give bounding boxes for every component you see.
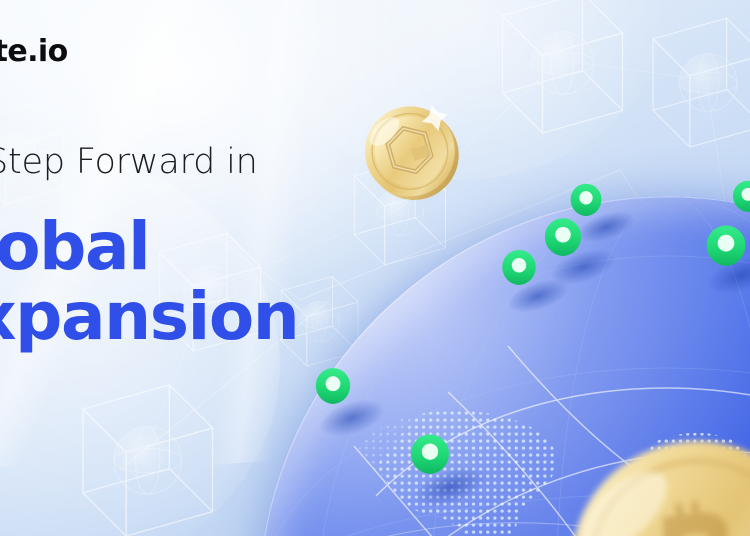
marketing-banner: ate.io Step Forward in lobal xpansion — [0, 0, 750, 536]
pin-south-america — [411, 434, 449, 474]
pin-europe-east — [545, 218, 581, 256]
headline-line-1: lobal — [0, 214, 149, 280]
pin-europe-west — [502, 250, 535, 285]
gate-io-logo[interactable]: ate.io — [0, 34, 68, 69]
headline-line-2: xpansion — [0, 284, 298, 350]
pin-north-america — [316, 368, 350, 404]
bitcoin-coin-blurred — [572, 440, 750, 536]
headline-kicker: Step Forward in — [0, 142, 258, 182]
pin-asia-north — [571, 184, 602, 216]
pin-asia-far — [733, 181, 750, 212]
